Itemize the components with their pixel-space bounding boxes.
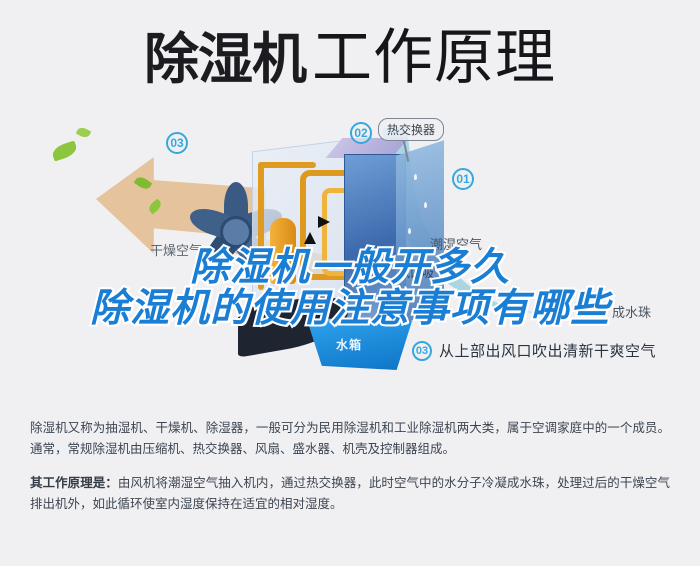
water-bead-label: 成水珠 xyxy=(612,302,651,321)
refrigerant-pipe xyxy=(258,162,316,168)
caption-text: 从上部出风口吹出清新干爽空气 xyxy=(439,340,656,361)
water-droplet-icon xyxy=(408,228,411,234)
step-badge-01: 01 xyxy=(452,168,474,190)
dry-air-label: 干燥空气 xyxy=(150,240,202,259)
refrigerant-pipe xyxy=(258,162,264,290)
water-tank-label: 水箱 xyxy=(336,336,362,353)
flow-arrow-icon xyxy=(304,232,316,244)
water-droplet-icon xyxy=(404,286,407,292)
water-droplet-icon xyxy=(414,174,417,180)
step-badge-02: 02 xyxy=(350,122,372,144)
body-paragraph-1: 除湿机又称为抽湿机、干燥机、除湿器，一般可分为民用除湿机和工业除湿机两大类，属于… xyxy=(30,418,670,460)
infographic-page: 除湿机工作原理 xyxy=(0,0,700,566)
leaf-icon xyxy=(76,125,92,139)
body-paragraph-2-lead: 其工作原理是： xyxy=(30,476,118,490)
caption-step-badge: 03 xyxy=(412,341,432,361)
page-title-light: 工作原理 xyxy=(312,24,556,91)
diagram-caption: 03 从上部出风口吹出清新干爽空气 xyxy=(412,340,656,361)
page-title: 除湿机工作原理 xyxy=(0,28,700,88)
compressor-illustration xyxy=(270,218,296,284)
step-badge-03: 03 xyxy=(166,132,188,154)
fan-hub xyxy=(220,216,252,248)
leaf-icon xyxy=(50,140,78,161)
flow-arrow-icon xyxy=(318,216,330,228)
heat-exchanger-fins xyxy=(396,140,444,326)
humid-air-label: 潮湿空气 xyxy=(430,234,482,253)
vent-intake-label: 风口吸 xyxy=(398,264,434,281)
body-paragraph-2-text: 由风机将潮湿空气抽入机内，通过热交换器，此时空气中的水分子冷凝成水珠，处理过后的… xyxy=(30,476,670,511)
page-title-strong: 除湿机 xyxy=(144,28,306,90)
water-droplet-icon xyxy=(424,202,427,208)
body-paragraph-2: 其工作原理是：由风机将潮湿空气抽入机内，通过热交换器，此时空气中的水分子冷凝成水… xyxy=(30,473,670,515)
article-body: 除湿机又称为抽湿机、干燥机、除湿器，一般可分为民用除湿机和工业除湿机两大类，属于… xyxy=(30,418,670,515)
heat-exchanger-callout: 热交换器 xyxy=(378,118,444,141)
